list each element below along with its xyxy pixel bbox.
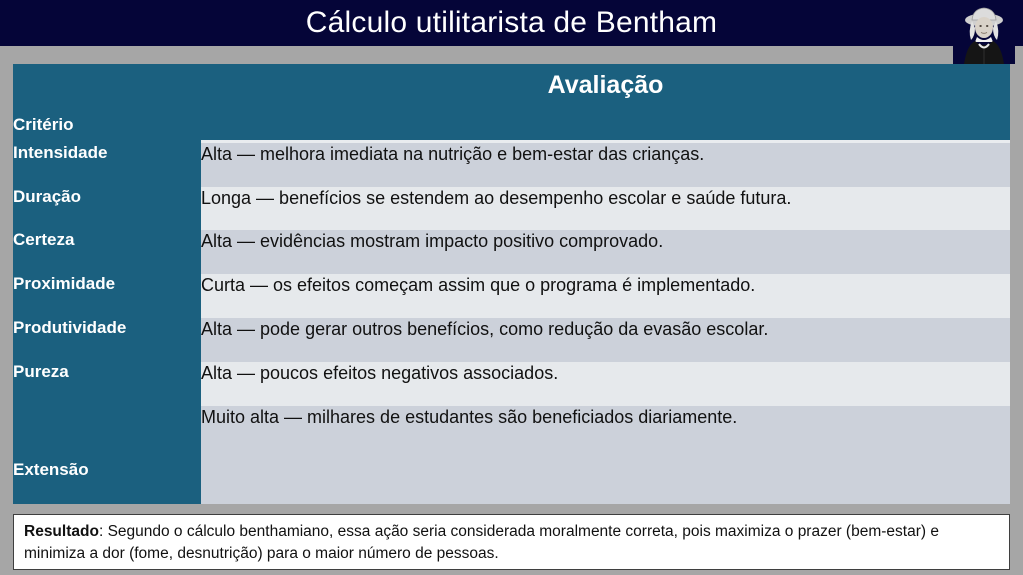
evaluation-cell-intensidade: Alta — melhora imediata na nutrição e be… — [201, 143, 1010, 187]
slide-canvas: Cálculo utilitarista de Bentham — [0, 0, 1023, 575]
table-header-row: Critério Avaliação — [13, 64, 1010, 143]
table-row: Produtividade Alta — pode gerar outros b… — [13, 318, 1010, 362]
table-row: Extensão Muito alta — milhares de estuda… — [13, 406, 1010, 504]
criterion-cell-intensidade: Intensidade — [13, 143, 201, 187]
evaluation-cell-extensao: Muito alta — milhares de estudantes são … — [201, 406, 1010, 504]
criterion-cell-pureza: Pureza — [13, 362, 201, 406]
result-box: Resultado: Segundo o cálculo benthamiano… — [13, 514, 1010, 570]
result-label: Resultado — [24, 523, 99, 540]
column-header-criterion: Critério — [13, 64, 201, 143]
table-row: Duração Longa — benefícios se estendem a… — [13, 187, 1010, 231]
criterion-cell-duracao: Duração — [13, 187, 201, 231]
evaluation-cell-certeza: Alta — evidências mostram impacto positi… — [201, 230, 1010, 274]
table-row: Certeza Alta — evidências mostram impact… — [13, 230, 1010, 274]
table-row: Proximidade Curta — os efeitos começam a… — [13, 274, 1010, 318]
criterion-cell-extensao: Extensão — [13, 406, 201, 504]
evaluation-cell-duracao: Longa — benefícios se estendem ao desemp… — [201, 187, 1010, 231]
criterion-cell-produtividade: Produtividade — [13, 318, 201, 362]
page-title: Cálculo utilitarista de Bentham — [0, 0, 1023, 46]
criterion-cell-proximidade: Proximidade — [13, 274, 201, 318]
result-text: Segundo o cálculo benthamiano, essa ação… — [24, 523, 939, 562]
column-header-evaluation: Avaliação — [201, 64, 1010, 143]
bentham-calculus-table: Critério Avaliação Intensidade Alta — me… — [13, 64, 1010, 504]
result-separator: : — [99, 523, 108, 540]
table-row: Pureza Alta — poucos efeitos negativos a… — [13, 362, 1010, 406]
table-row: Intensidade Alta — melhora imediata na n… — [13, 143, 1010, 187]
criterion-cell-certeza: Certeza — [13, 230, 201, 274]
slide-title-bar: Cálculo utilitarista de Bentham — [0, 0, 1023, 46]
evaluation-cell-produtividade: Alta — pode gerar outros benefícios, com… — [201, 318, 1010, 362]
bentham-portrait-icon — [953, 2, 1015, 64]
evaluation-cell-pureza: Alta — poucos efeitos negativos associad… — [201, 362, 1010, 406]
bentham-calculus-table-wrapper: Critério Avaliação Intensidade Alta — me… — [13, 64, 1010, 504]
evaluation-cell-proximidade: Curta — os efeitos começam assim que o p… — [201, 274, 1010, 318]
